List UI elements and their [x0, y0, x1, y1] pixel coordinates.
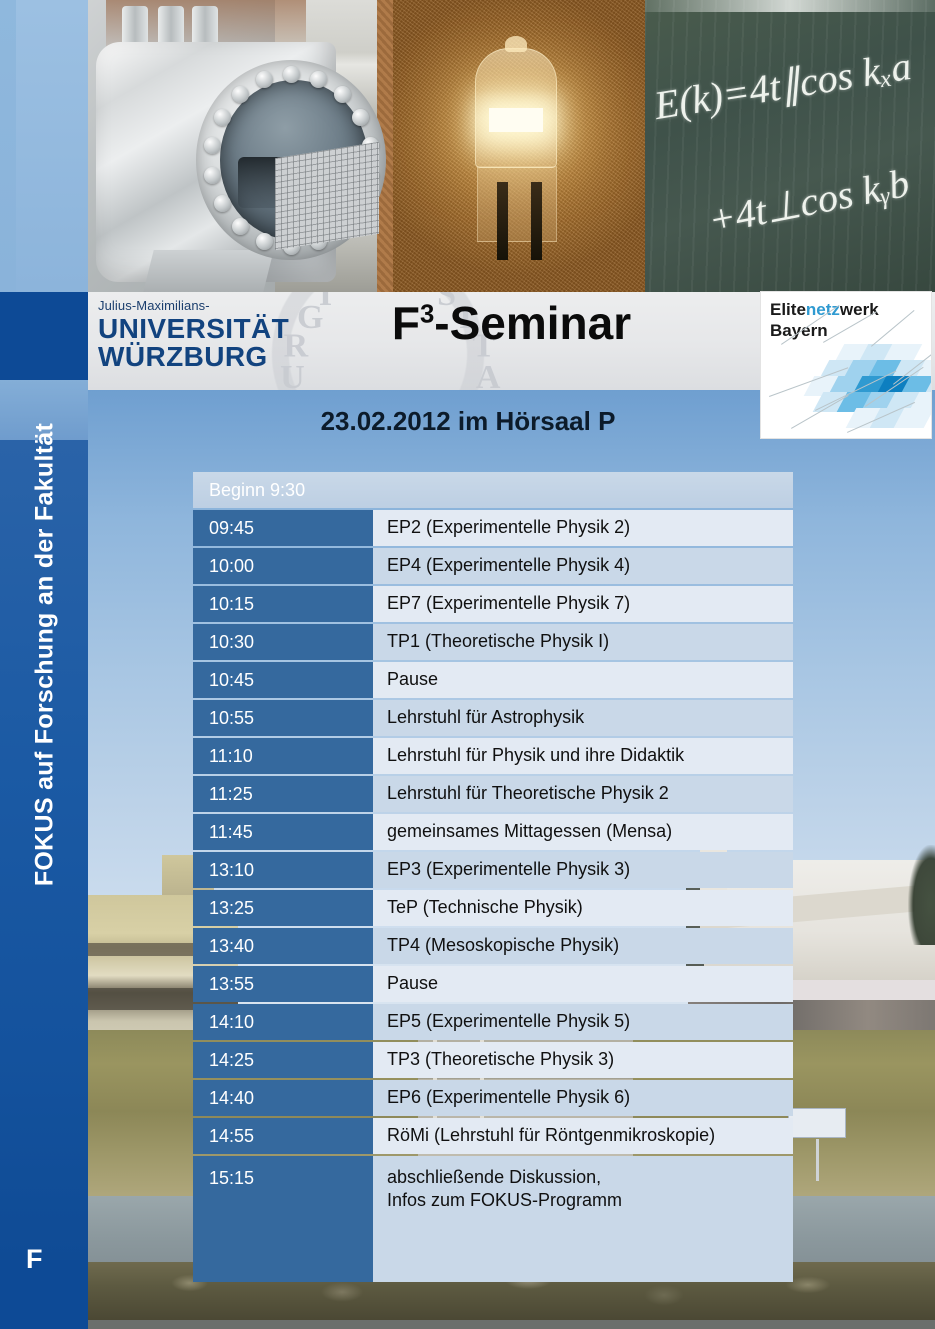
- schedule-row: 10:30TP1 (Theoretische Physik I): [193, 624, 793, 660]
- schedule-row: 13:10EP3 (Experimentelle Physik 3): [193, 852, 793, 888]
- left-sidebar: FOKUS auf Forschung an der Fakultät F: [0, 0, 88, 1329]
- perforated-panel: [275, 142, 379, 250]
- sidebar-vertical-text: FOKUS auf Forschung an der Fakultät: [31, 305, 60, 1005]
- schedule-row-description: Lehrstuhl für Physik und ihre Didaktik: [373, 738, 793, 774]
- flange-bolt: [204, 167, 221, 184]
- flange-bolt: [334, 86, 351, 103]
- schedule-row-description: EP4 (Experimentelle Physik 4): [373, 548, 793, 584]
- schedule-row-time: 13:55: [193, 966, 373, 1002]
- schedule-row-time: 10:15: [193, 586, 373, 622]
- schedule-row-time: 11:10: [193, 738, 373, 774]
- schedule-row: 13:40TP4 (Mesoskopische Physik): [193, 928, 793, 964]
- poster-canvas: E(k)=4t∥cos kₓa +4t⊥cos kᵧb RBURGIVERSIT…: [0, 0, 935, 1329]
- schedule-row-description: abschließende Diskussion, Infos zum FOKU…: [373, 1156, 793, 1282]
- schedule-row-description: Lehrstuhl für Astrophysik: [373, 700, 793, 736]
- schedule-row-description: Lehrstuhl für Theoretische Physik 2: [373, 776, 793, 812]
- schedule-row: 14:55RöMi (Lehrstuhl für Röntgenmikrosko…: [193, 1118, 793, 1154]
- schedule-row: 09:45EP2 (Experimentelle Physik 2): [193, 510, 793, 546]
- flange-bolt: [204, 137, 221, 154]
- photo-strip: E(k)=4t∥cos kₓa +4t⊥cos kᵧb: [88, 0, 935, 292]
- schedule-row-time: 10:00: [193, 548, 373, 584]
- schedule-row: 14:25TP3 (Theoretische Physik 3): [193, 1042, 793, 1078]
- bottom-edge-strip: [88, 1320, 935, 1329]
- schedule-row-description: EP5 (Experimentelle Physik 5): [373, 1004, 793, 1040]
- schedule-row-time: 10:30: [193, 624, 373, 660]
- flange-bolt: [352, 109, 369, 126]
- schedule-row-description: TP3 (Theoretische Physik 3): [373, 1042, 793, 1078]
- schedule-row: 10:55Lehrstuhl für Astrophysik: [193, 700, 793, 736]
- flange-bolt: [283, 66, 300, 83]
- tree: [908, 845, 935, 945]
- schedule-row-description: TP1 (Theoretische Physik I): [373, 624, 793, 660]
- sidebar-bottom-block: [0, 1260, 88, 1329]
- flange-bolt: [214, 109, 231, 126]
- flange-bolt: [310, 71, 327, 88]
- schedule-row-description: TeP (Technische Physik): [373, 890, 793, 926]
- schedule-table: Beginn 9:30 09:45EP2 (Experimentelle Phy…: [193, 472, 793, 1284]
- schedule-row: 14:10EP5 (Experimentelle Physik 5): [193, 1004, 793, 1040]
- flange-bolt: [232, 218, 249, 235]
- title-rest: -Seminar: [434, 297, 631, 349]
- sidebar-corner-letter: F: [26, 1244, 43, 1275]
- title-superscript: 3: [420, 301, 434, 329]
- schedule-row-time: 14:10: [193, 1004, 373, 1040]
- schedule-row-time: 13:40: [193, 928, 373, 964]
- schedule-row-description: EP7 (Experimentelle Physik 7): [373, 586, 793, 622]
- schedule-row-time: 14:25: [193, 1042, 373, 1078]
- schedule-row: 11:25Lehrstuhl für Theoretische Physik 2: [193, 776, 793, 812]
- schedule-row: 10:00EP4 (Experimentelle Physik 4): [193, 548, 793, 584]
- enb-word-elite: Elite: [770, 300, 806, 319]
- schedule-row-time: 11:25: [193, 776, 373, 812]
- schedule-row: 10:45Pause: [193, 662, 793, 698]
- schedule-row: 13:55Pause: [193, 966, 793, 1002]
- lamp-pinch-tip: [505, 36, 527, 52]
- lamp-pin-left: [497, 182, 508, 260]
- flange-bolt: [256, 71, 273, 88]
- schedule-row-description: EP3 (Experimentelle Physik 3): [373, 852, 793, 888]
- lamp-base: [477, 166, 557, 242]
- schedule-row-time: 11:45: [193, 814, 373, 850]
- schedule-row-time: 10:45: [193, 662, 373, 698]
- schedule-row-time: 09:45: [193, 510, 373, 546]
- schedule-row: 14:40EP6 (Experimentelle Physik 6): [193, 1080, 793, 1116]
- flange-bolt: [256, 233, 273, 250]
- schedule-row: 11:45gemeinsames Mittagessen (Mensa): [193, 814, 793, 850]
- schedule-row: 15:15abschließende Diskussion, Infos zum…: [193, 1156, 793, 1282]
- schedule-row-description: TP4 (Mesoskopische Physik): [373, 928, 793, 964]
- schedule-row-description: Pause: [373, 966, 793, 1002]
- enb-word-werk: werk: [840, 300, 879, 319]
- schedule-row-description: EP6 (Experimentelle Physik 6): [373, 1080, 793, 1116]
- event-date-line: 23.02.2012 im Hörsaal P: [88, 406, 848, 437]
- halogen-lamp-photo: [393, 0, 645, 292]
- street-sign: [788, 1108, 846, 1138]
- schedule-row-time: 13:10: [193, 852, 373, 888]
- lamp-filament-glow: [489, 108, 543, 132]
- schedule-rows: 09:45EP2 (Experimentelle Physik 2)10:00E…: [193, 510, 793, 1282]
- title-main: F: [392, 297, 420, 349]
- schedule-header: Beginn 9:30: [193, 472, 793, 508]
- schedule-row-description: RöMi (Lehrstuhl für Röntgenmikroskopie): [373, 1118, 793, 1154]
- seal-letter: A: [476, 359, 501, 390]
- schedule-row-description: gemeinsames Mittagessen (Mensa): [373, 814, 793, 850]
- schedule-row-time: 13:25: [193, 890, 373, 926]
- schedule-row-time: 15:15: [193, 1156, 373, 1282]
- flange-bolt: [214, 195, 231, 212]
- schedule-row: 10:15EP7 (Experimentelle Physik 7): [193, 586, 793, 622]
- enb-line1: Elitenetzwerk: [770, 300, 879, 320]
- schedule-row-description: Pause: [373, 662, 793, 698]
- sidebar-top-block: [16, 0, 88, 292]
- flange-bolt: [232, 86, 249, 103]
- blackboard-top-edge: [645, 0, 935, 12]
- lamp-pin-right: [531, 182, 542, 260]
- schedule-row-description: EP2 (Experimentelle Physik 2): [373, 510, 793, 546]
- vacuum-chamber-photo: [88, 0, 393, 292]
- schedule-row: 11:10Lehrstuhl für Physik und ihre Didak…: [193, 738, 793, 774]
- schedule-row: 13:25TeP (Technische Physik): [193, 890, 793, 926]
- blackboard-photo: E(k)=4t∥cos kₓa +4t⊥cos kᵧb: [645, 0, 935, 292]
- schedule-row-time: 14:40: [193, 1080, 373, 1116]
- seal-letter: E: [378, 292, 401, 294]
- schedule-row-time: 10:55: [193, 700, 373, 736]
- schedule-row-time: 14:55: [193, 1118, 373, 1154]
